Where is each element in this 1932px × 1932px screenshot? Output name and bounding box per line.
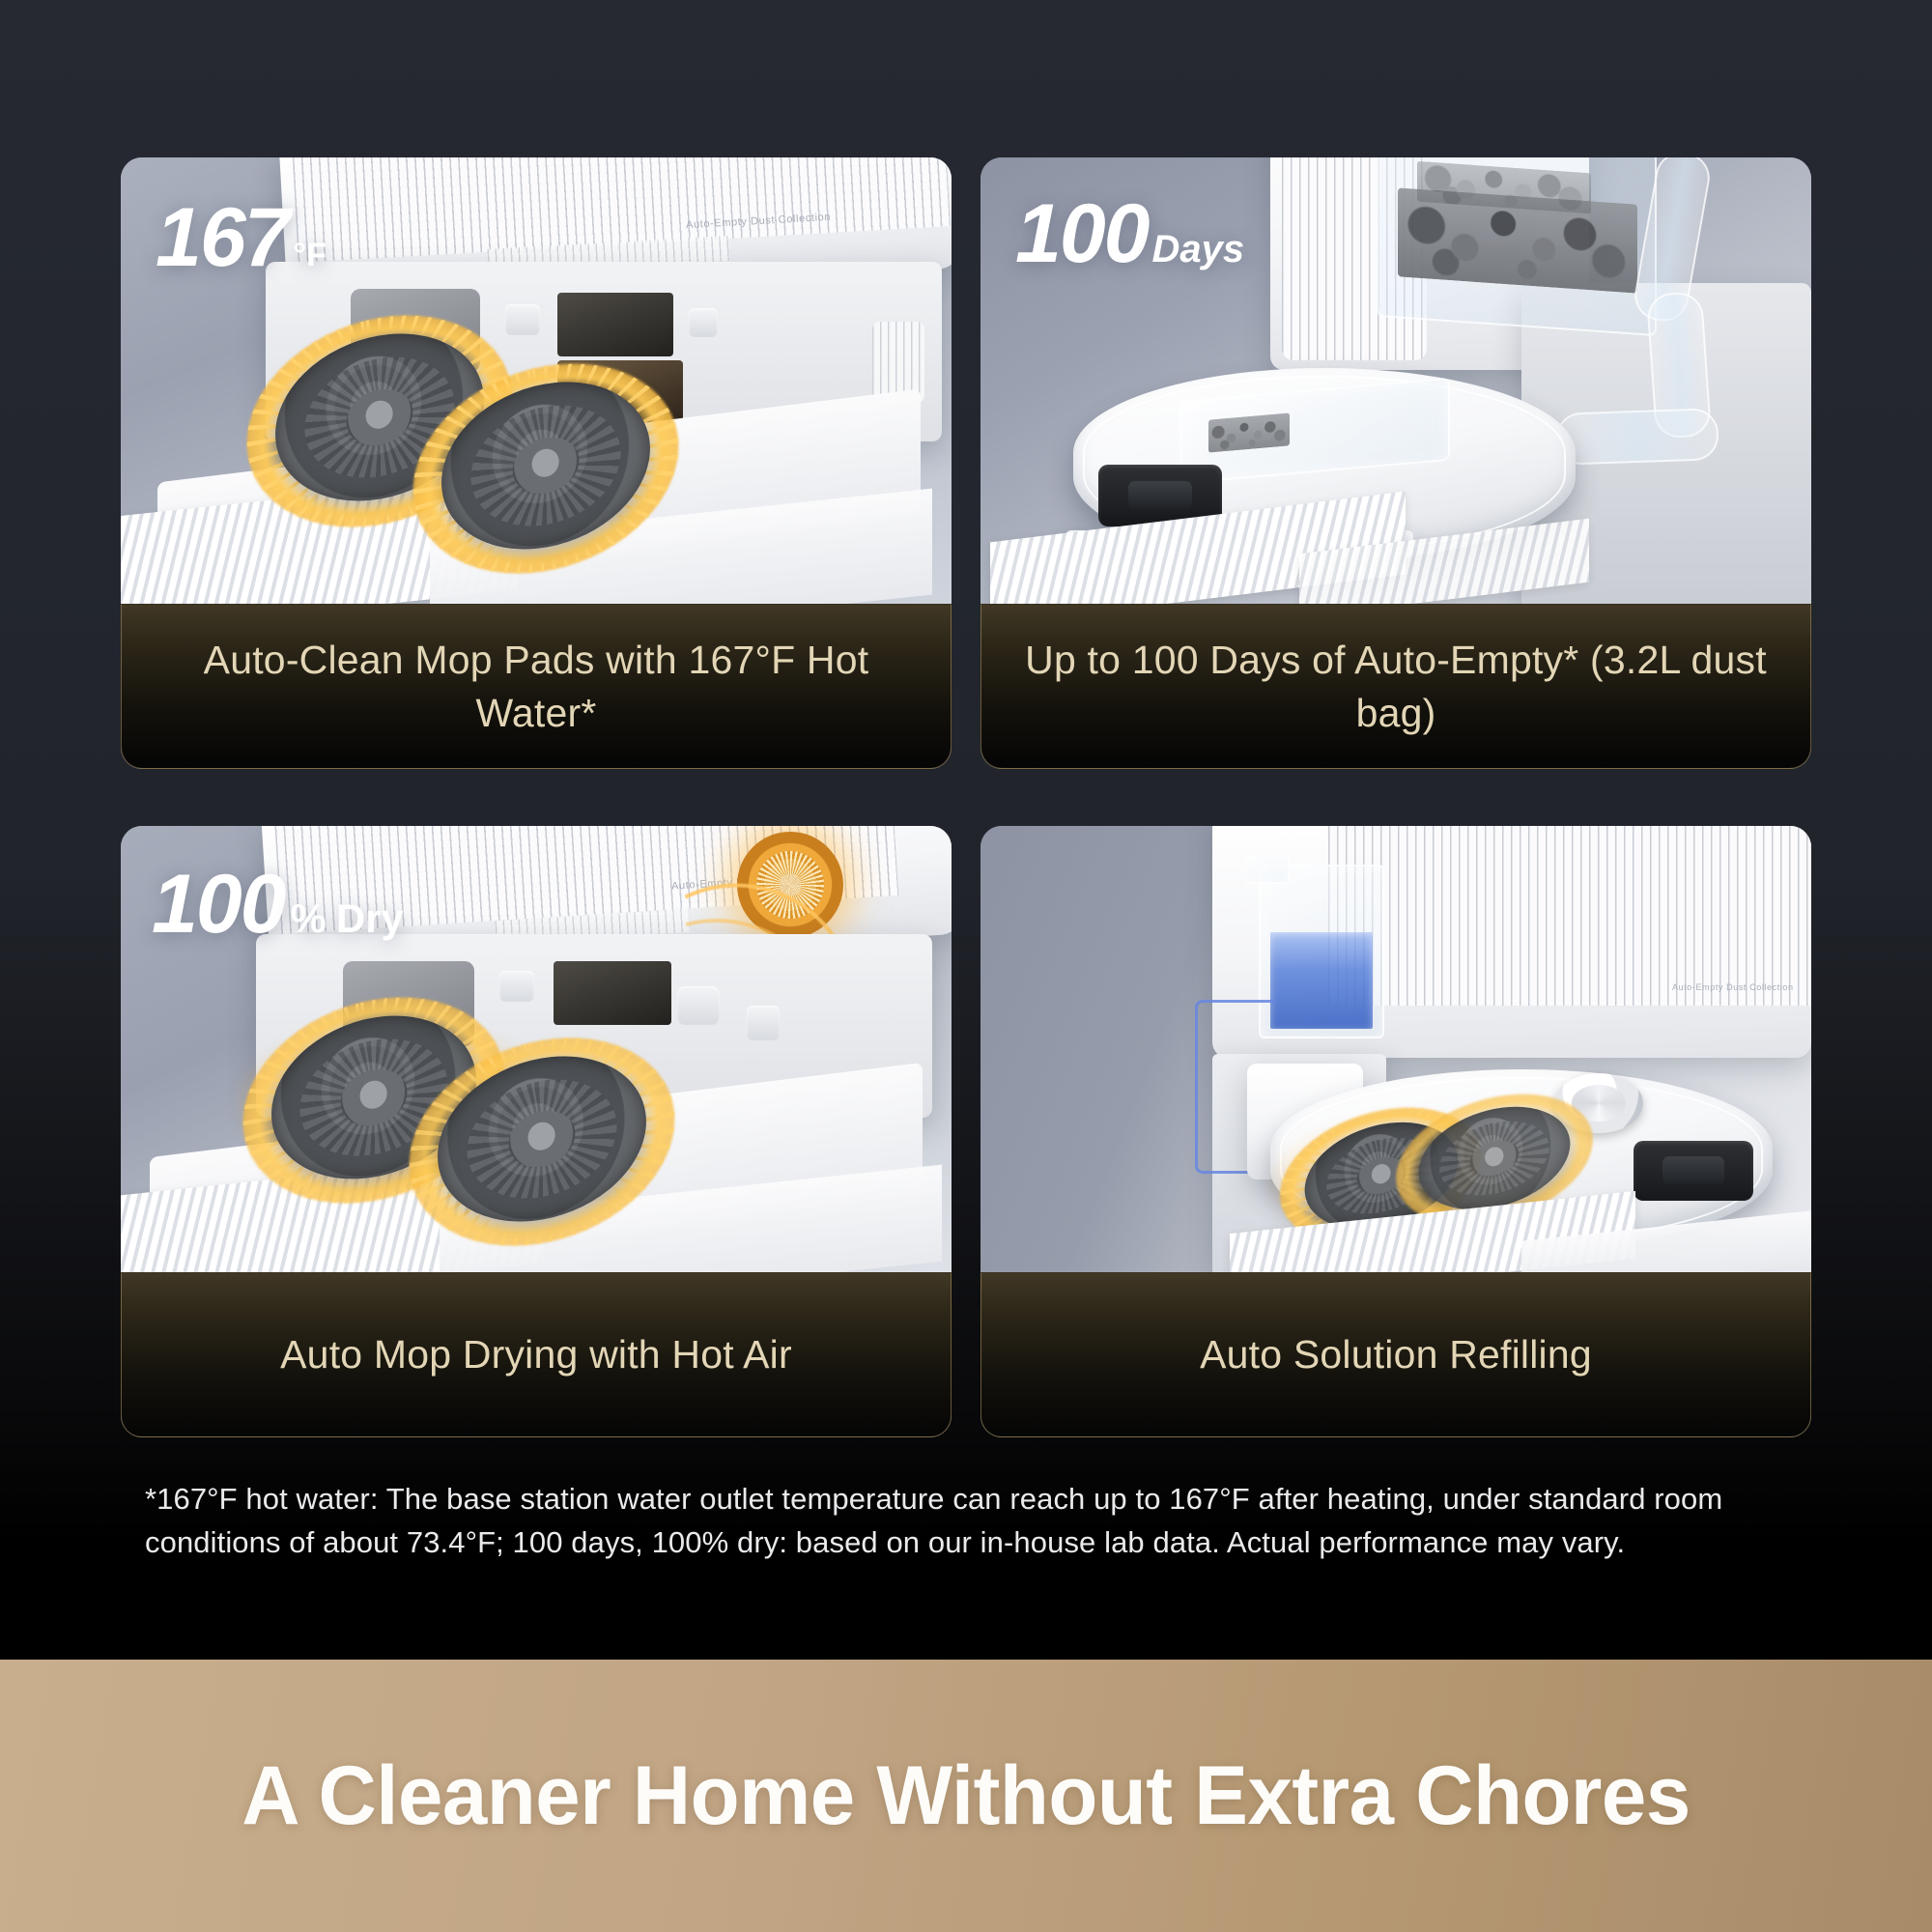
device-label-dust-collection: Auto-Empty Dust Collection: [1672, 982, 1794, 992]
stat-100-percent-dry: 100 % Dry: [152, 857, 404, 952]
marketing-page: Auto-Empty Dust Collection: [0, 0, 1932, 1932]
caption-text: Auto Mop Drying with Hot Air: [255, 1328, 817, 1380]
feature-card-auto-mop-drying[interactable]: Auto-Empty Dust Collection: [121, 826, 952, 1437]
solution-liquid: [1270, 932, 1373, 1029]
stat-167f: 167 °F: [156, 190, 327, 286]
bottom-banner: A Cleaner Home Without Extra Chores: [0, 1660, 1932, 1932]
stat-unit: Days: [1152, 228, 1245, 271]
robot-bumper: [1634, 1141, 1753, 1201]
feature-card-grid: Auto-Empty Dust Collection: [121, 157, 1811, 1437]
stat-value: 167: [156, 190, 289, 286]
feature-card-auto-clean-mop-pads[interactable]: Auto-Empty Dust Collection: [121, 157, 952, 769]
stat-unit-dry: Dry: [336, 895, 404, 942]
caption-text: Auto Solution Refilling: [1175, 1328, 1617, 1380]
feature-card-auto-solution-refilling[interactable]: Auto-Empty Dust Collection: [980, 826, 1811, 1437]
stat-100-days: 100 Days: [1015, 186, 1244, 282]
card-caption-auto-mop-drying: Auto Mop Drying with Hot Air: [121, 1272, 952, 1437]
caption-text: Up to 100 Days of Auto-Empty* (3.2L dust…: [981, 634, 1810, 738]
stat-value: 100: [1015, 186, 1149, 282]
stat-value: 100: [152, 857, 285, 952]
footnote-disclaimer: *167°F hot water: The base station water…: [145, 1478, 1787, 1564]
stat-unit-percent: %: [291, 895, 327, 942]
stat-unit: °F: [294, 237, 327, 274]
feature-card-auto-empty[interactable]: 100 Days Up to 100 Days of Auto-Empty* (…: [980, 157, 1811, 769]
card-caption-auto-clean-mop-pads: Auto-Clean Mop Pads with 167°F Hot Water…: [121, 604, 952, 769]
caption-text: Auto-Clean Mop Pads with 167°F Hot Water…: [122, 634, 951, 738]
product-photo-solution-refilling: Auto-Empty Dust Collection: [980, 826, 1811, 1272]
card-caption-auto-empty: Up to 100 Days of Auto-Empty* (3.2L dust…: [980, 604, 1811, 769]
banner-headline: A Cleaner Home Without Extra Chores: [241, 1748, 1690, 1844]
card-caption-auto-solution-refilling: Auto Solution Refilling: [980, 1272, 1811, 1437]
